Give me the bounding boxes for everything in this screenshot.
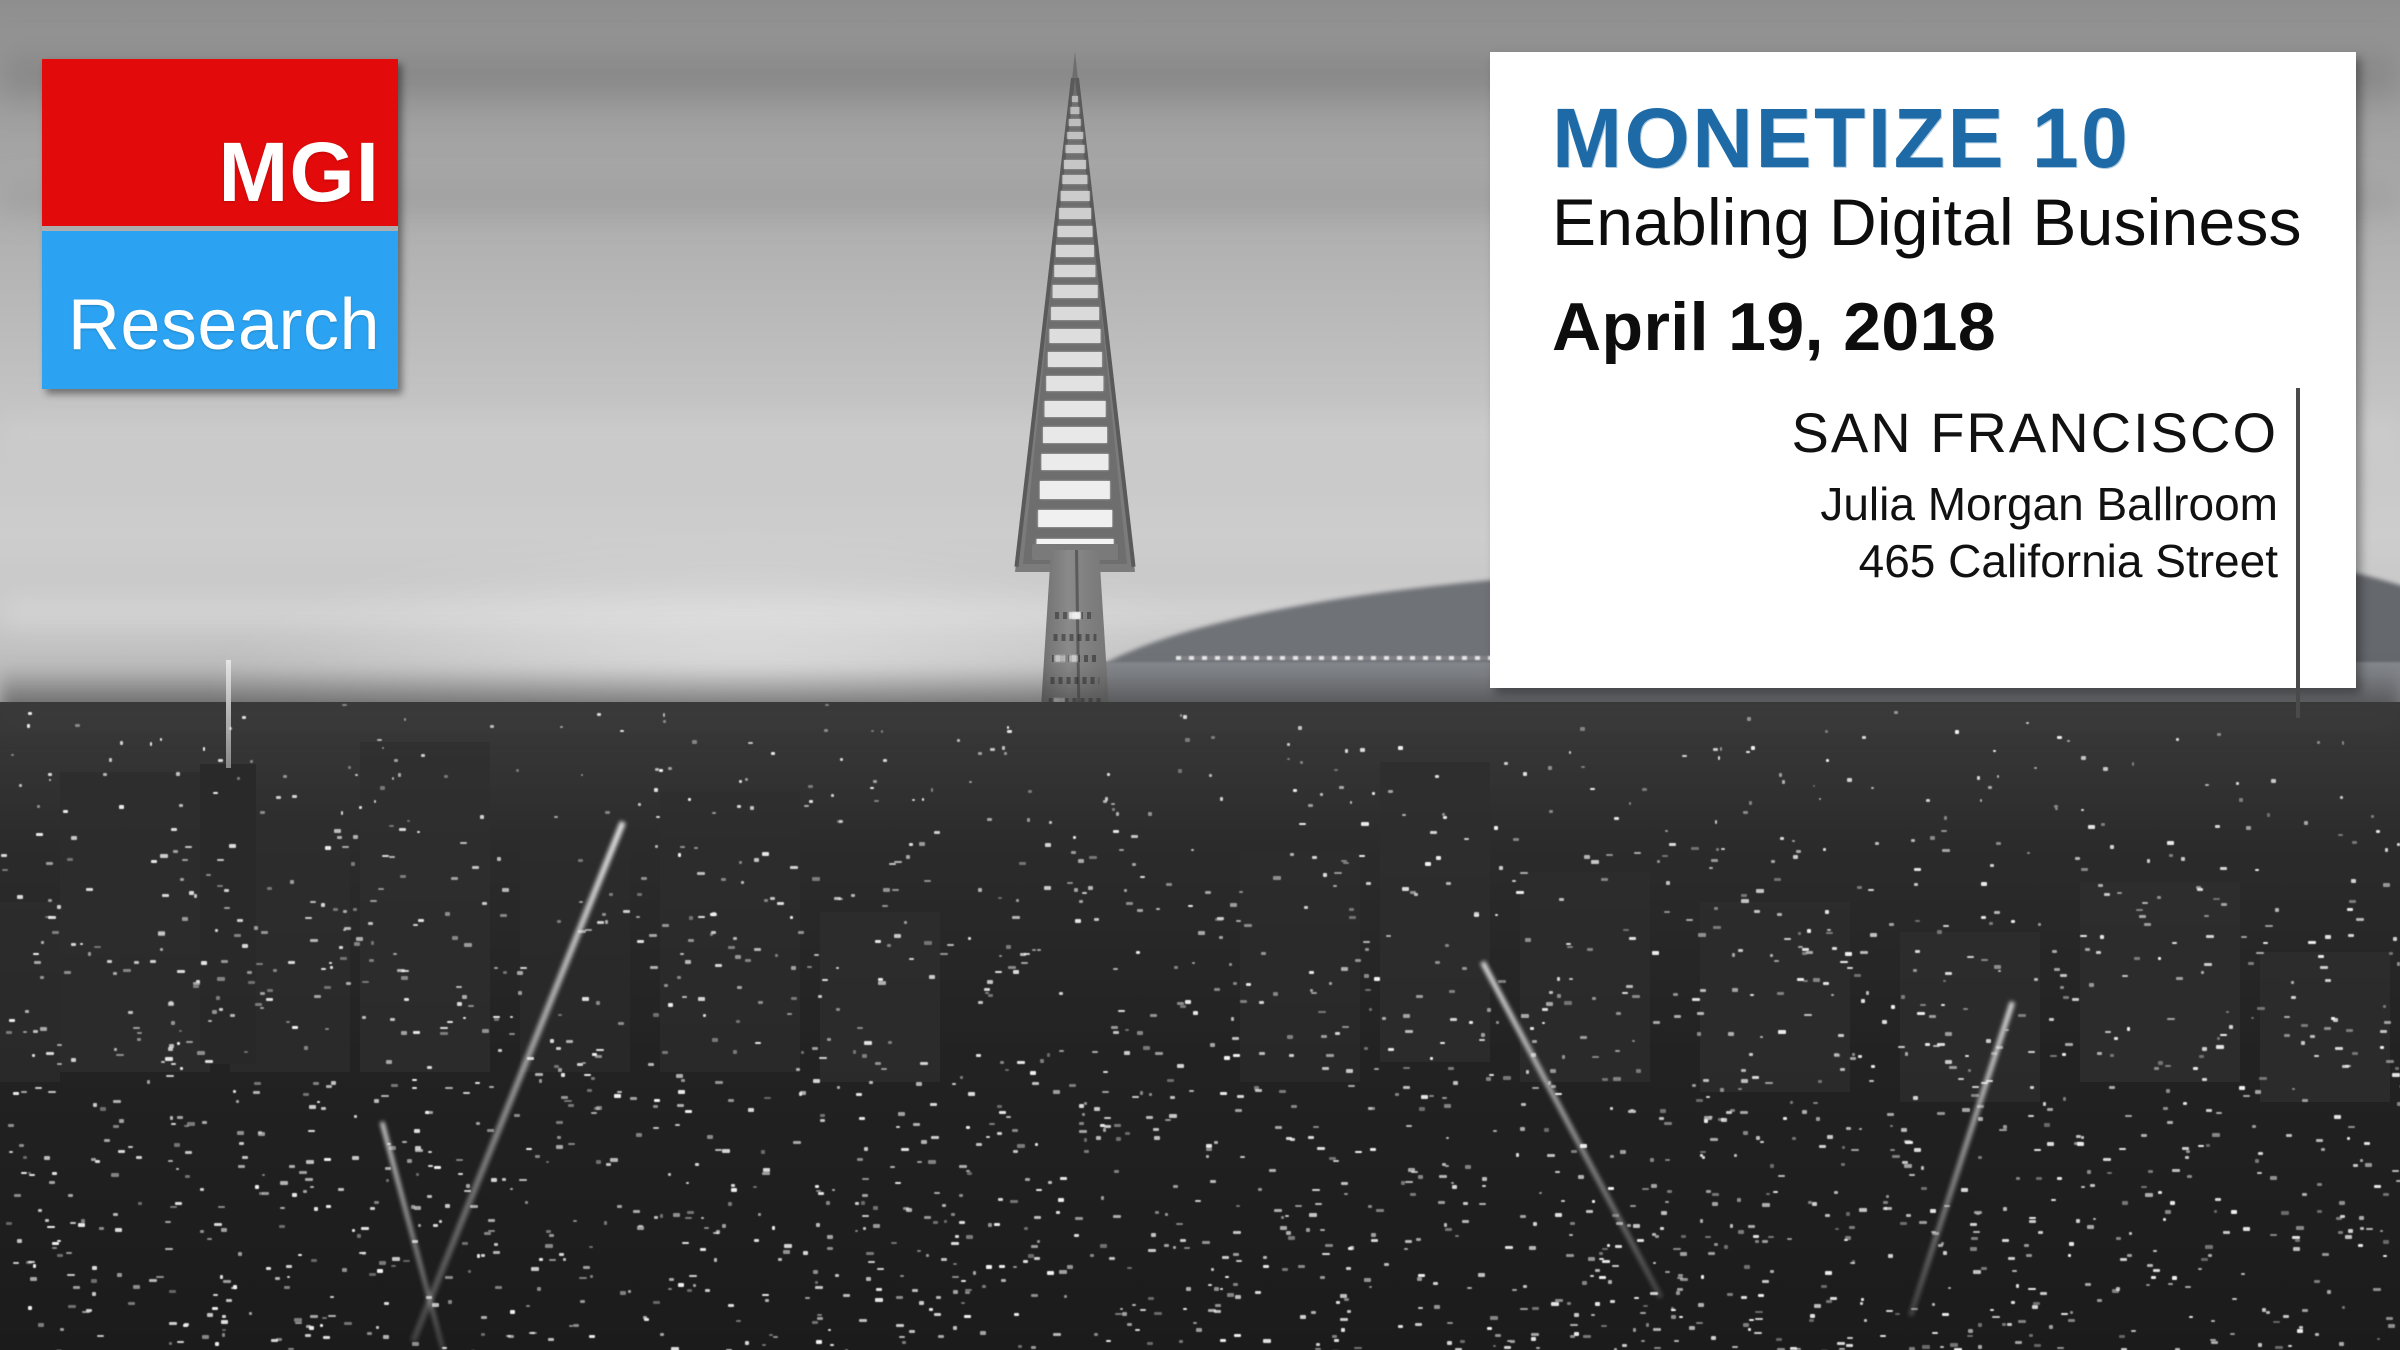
- logo-top-block: MGI: [42, 59, 398, 226]
- event-card-content: MONETIZE 10 Enabling Digital Business Ap…: [1552, 96, 2330, 688]
- logo-mgi-text: MGI: [218, 130, 380, 214]
- event-date: April 19, 2018: [1552, 290, 2330, 365]
- city-skyline: [0, 702, 2400, 1350]
- event-title: MONETIZE 10: [1552, 96, 2330, 182]
- venue-address: 465 California Street: [1792, 533, 2279, 591]
- spire-window-slots: [1027, 92, 1123, 562]
- logo-research-text: Research: [68, 289, 380, 361]
- event-info-card: MONETIZE 10 Enabling Digital Business Ap…: [1490, 52, 2356, 688]
- mgi-research-logo[interactable]: MGI Research: [42, 59, 398, 389]
- logo-bottom-block: Research: [42, 231, 398, 389]
- presentation-slide: MGI Research MONETIZE 10 Enabling Digita…: [0, 0, 2400, 1350]
- venue-city: SAN FRANCISCO: [1792, 402, 2279, 464]
- venue-divider-rule: [2296, 388, 2300, 718]
- event-subtitle: Enabling Digital Business: [1552, 186, 2330, 260]
- venue-block: SAN FRANCISCO Julia Morgan Ballroom 465 …: [1792, 402, 2279, 591]
- city-lights: [0, 702, 2400, 1350]
- venue-name: Julia Morgan Ballroom: [1792, 476, 2279, 534]
